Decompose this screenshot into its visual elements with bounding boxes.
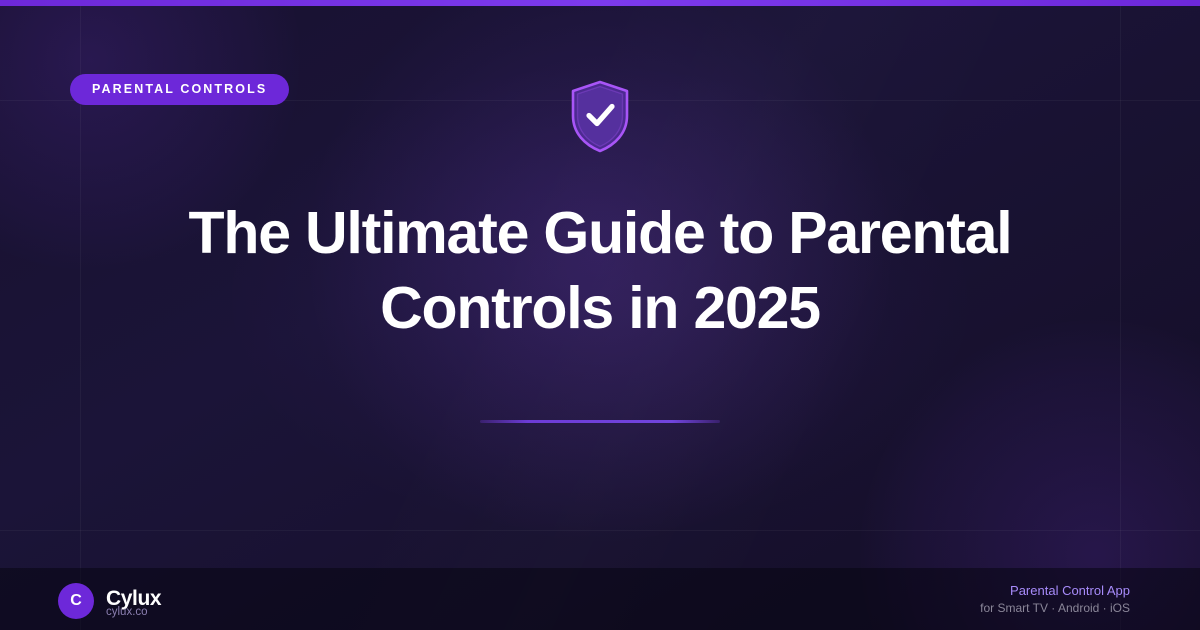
page-title-line-1: The Ultimate Guide to Parental [60,196,1140,271]
footer-product-name: Parental Control App [980,582,1130,600]
hero-banner: PARENTAL CONTROLS The Ultimate Guide to … [0,0,1200,630]
category-badge: PARENTAL CONTROLS [70,74,289,105]
shield-check-icon [569,80,631,154]
footer-meta: Parental Control App for Smart TV · Andr… [980,582,1130,617]
brand-logo[interactable]: C Cylux cylux.co [58,583,106,619]
brand-avatar: C [58,583,94,619]
brand-url: cylux.co [106,607,148,619]
category-badge-label: PARENTAL CONTROLS [92,83,267,96]
grid-line-horizontal-bottom [0,530,1200,531]
top-accent-bar [0,0,1200,6]
brand-avatar-letter: C [70,593,82,609]
page-title: The Ultimate Guide to Parental Controls … [0,196,1200,346]
footer-platforms: for Smart TV · Android · iOS [980,600,1130,617]
page-title-line-2: Controls in 2025 [60,271,1140,346]
title-divider [480,420,720,423]
